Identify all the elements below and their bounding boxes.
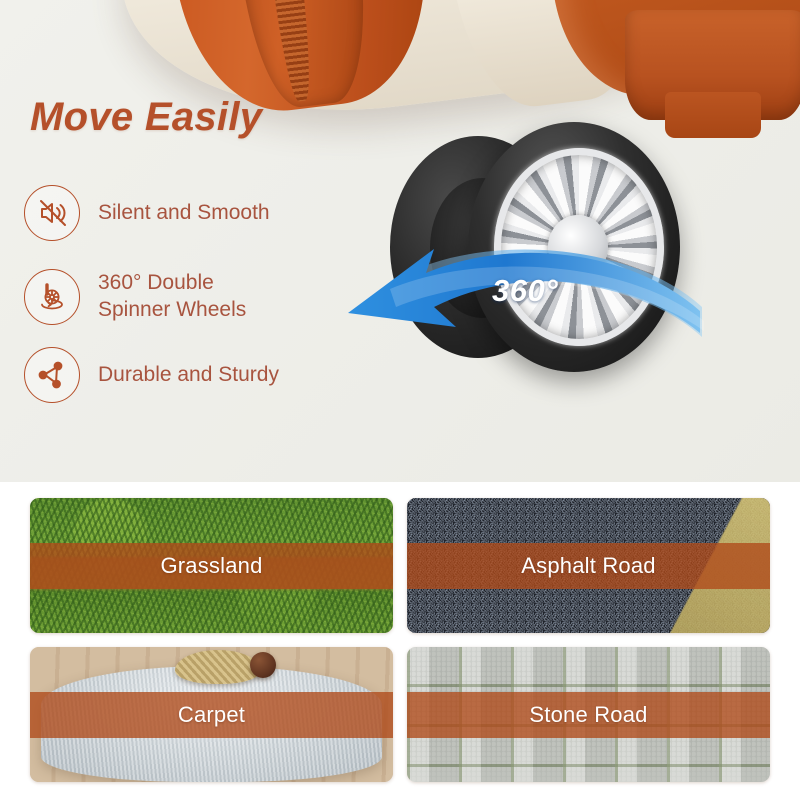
feature-item-silent: Silent and Smooth (24, 185, 364, 241)
feature-item-spinner-wheels: 360° Double Spinner Wheels (24, 269, 364, 325)
surface-panel-grassland: Grassland (30, 498, 393, 633)
surface-panel-asphalt-road: Asphalt Road (407, 498, 770, 633)
rotation-arrow-overlay: 360° (330, 215, 710, 365)
panel-label: Stone Road (529, 702, 647, 728)
feature-label: Silent and Smooth (98, 200, 270, 227)
spinner-wheel-icon (24, 269, 80, 325)
feature-list: Silent and Smooth (24, 185, 364, 431)
panel-label-band: Asphalt Road (407, 543, 770, 589)
product-infographic: 360° Move Easily Silent and Smooth (0, 0, 800, 800)
feature-item-durable: Durable and Sturdy (24, 347, 364, 403)
panel-label-band: Carpet (30, 692, 393, 738)
panel-label: Grassland (160, 553, 262, 579)
surface-panel-carpet: Carpet (30, 647, 393, 782)
surface-panel-stone-road: Stone Road (407, 647, 770, 782)
wheel-360-badge: 360° (492, 273, 558, 309)
panel-label: Carpet (178, 702, 245, 728)
panel-label-band: Stone Road (407, 692, 770, 738)
feature-label: Durable and Sturdy (98, 362, 279, 389)
mute-speaker-icon (24, 185, 80, 241)
panel-label-band: Grassland (30, 543, 393, 589)
surface-panel-grid: Grassland Asphalt Road Carpet Stone R (0, 482, 800, 800)
panel-label: Asphalt Road (521, 553, 656, 579)
share-nodes-icon (24, 347, 80, 403)
hero-section: 360° Move Easily Silent and Smooth (0, 0, 800, 482)
page-title: Move Easily (30, 95, 262, 140)
decor-ball (250, 652, 276, 678)
feature-label: 360° Double Spinner Wheels (98, 270, 246, 324)
